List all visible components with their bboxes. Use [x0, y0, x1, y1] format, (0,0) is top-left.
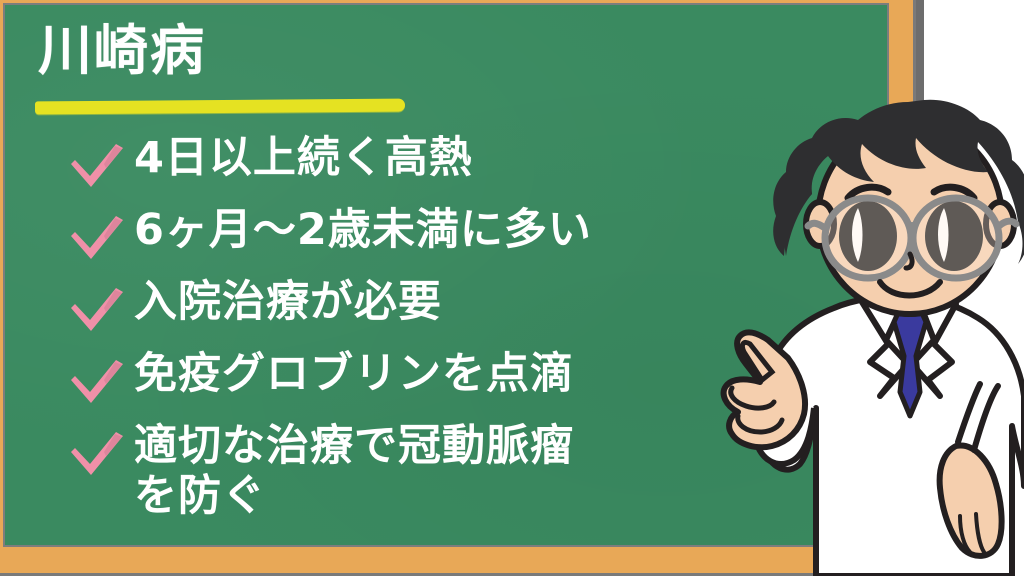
- check-icon: [62, 132, 134, 198]
- doctor-figure: [712, 96, 1024, 576]
- list-item-label: 6ヶ月〜2歳未満に多い: [134, 204, 752, 256]
- list-item: 適切な治療で冠動脈瘤 を防ぐ: [62, 420, 752, 522]
- page-title: 川崎病: [38, 24, 206, 78]
- list-item-label: 入院治療が必要: [134, 276, 752, 328]
- check-icon: [62, 420, 134, 486]
- doctor-illustration: [712, 96, 1024, 576]
- list-item-label: 4日以上続く高熱: [134, 132, 752, 184]
- bullet-list: 4日以上続く高熱 6ヶ月〜2歳未満に多い 入院治療が必要: [62, 132, 752, 528]
- list-item: 入院治療が必要: [62, 276, 752, 342]
- list-item-label: 免疫グロブリンを点滴: [134, 348, 752, 400]
- check-icon: [62, 276, 134, 342]
- chalkboard-poster: 川崎病 4日以上続く高熱 6ヶ月〜2歳未満に多い: [0, 0, 1024, 576]
- check-icon: [62, 204, 134, 270]
- check-icon: [62, 348, 134, 414]
- list-item: 免疫グロブリンを点滴: [62, 348, 752, 414]
- list-item: 4日以上続く高熱: [62, 132, 752, 198]
- list-item-label: 適切な治療で冠動脈瘤 を防ぐ: [134, 420, 752, 522]
- list-item: 6ヶ月〜2歳未満に多い: [62, 204, 752, 270]
